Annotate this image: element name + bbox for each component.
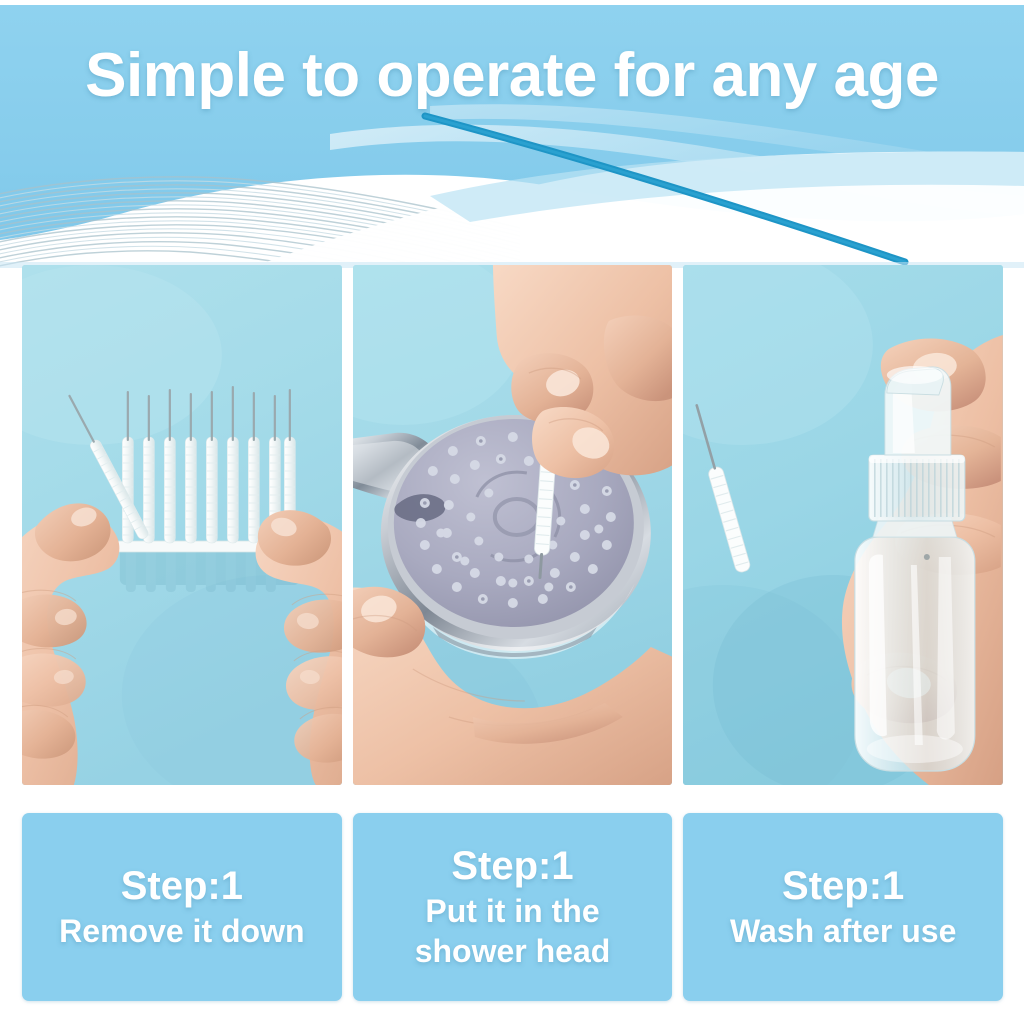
photo-panel-row bbox=[22, 265, 1003, 785]
panel-spray-bottle bbox=[683, 265, 1003, 785]
page-title: Simple to operate for any age bbox=[0, 42, 1024, 110]
spray-bottle-illustration bbox=[683, 265, 1003, 785]
panel-shower-head bbox=[353, 265, 673, 785]
panel-brush-strip bbox=[22, 265, 342, 785]
step-label-3: Step:1 bbox=[782, 863, 904, 909]
product-infographic: Simple to operate for any age bbox=[0, 0, 1024, 1024]
step-description-3: Wash after use bbox=[730, 911, 956, 951]
step-description-1: Remove it down bbox=[59, 911, 304, 951]
step-description-2-line-2: shower head bbox=[415, 931, 611, 971]
caption-card-row: Step:1 Remove it down Step:1 Put it in t… bbox=[22, 813, 1003, 1001]
shower-head-illustration bbox=[353, 265, 673, 785]
caption-card-2: Step:1 Put it in the shower head bbox=[353, 813, 673, 1001]
brush-strip-illustration bbox=[22, 265, 342, 785]
step-description-2-line-1: Put it in the bbox=[425, 891, 599, 931]
header-banner: Simple to operate for any age bbox=[0, 0, 1024, 268]
caption-card-1: Step:1 Remove it down bbox=[22, 813, 342, 1001]
caption-card-3: Step:1 Wash after use bbox=[683, 813, 1003, 1001]
step-label-1: Step:1 bbox=[121, 863, 243, 909]
step-label-2: Step:1 bbox=[451, 843, 573, 889]
